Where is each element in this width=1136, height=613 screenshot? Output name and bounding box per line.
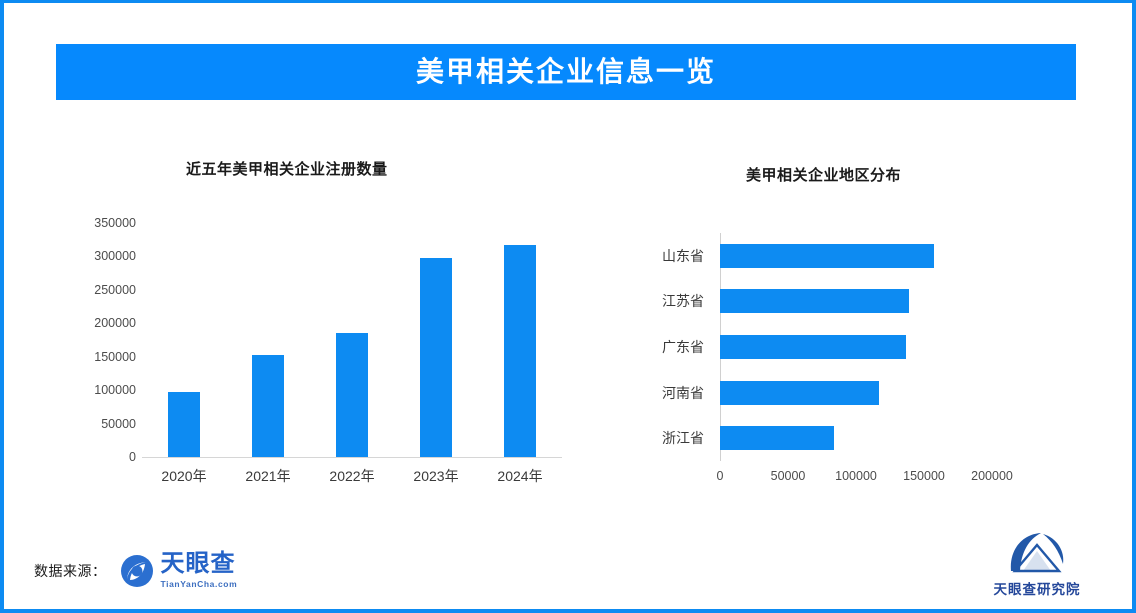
region-distribution-x-tick: 0 bbox=[717, 469, 724, 483]
registrations-y-tick: 350000 bbox=[94, 216, 136, 230]
registrations-y-tick: 50000 bbox=[101, 417, 136, 431]
region-distribution-category-label: 浙江省 bbox=[662, 428, 704, 448]
region-distribution-chart: 美甲相关企业地区分布 山东省江苏省广东省河南省浙江省 0500001000001… bbox=[624, 158, 1084, 508]
region-distribution-category-label: 江苏省 bbox=[662, 291, 704, 311]
registrations-x-tick: 2024年 bbox=[478, 466, 562, 486]
page-banner: 美甲相关企业信息一览 bbox=[56, 44, 1076, 100]
region-distribution-category-label: 山东省 bbox=[662, 246, 704, 266]
region-distribution-bars: 山东省江苏省广东省河南省浙江省 bbox=[720, 233, 992, 461]
region-distribution-row: 广东省 bbox=[720, 335, 992, 359]
registrations-bar bbox=[252, 355, 284, 457]
registrations-x-tick: 2020年 bbox=[142, 466, 226, 486]
registrations-y-tick: 250000 bbox=[94, 283, 136, 297]
registrations-x-tick: 2023年 bbox=[394, 466, 478, 486]
tianyancha-eye-icon bbox=[119, 553, 155, 589]
registrations-x-axis: 2020年2021年2022年2023年2024年 bbox=[142, 466, 562, 486]
registrations-bar-slot bbox=[394, 223, 478, 457]
tianyancha-name: 天眼查 bbox=[161, 552, 238, 576]
registrations-y-tick: 100000 bbox=[94, 383, 136, 397]
region-distribution-row: 河南省 bbox=[720, 381, 992, 405]
region-distribution-row: 江苏省 bbox=[720, 289, 992, 313]
registrations-bar-slot bbox=[478, 223, 562, 457]
registrations-x-axis-line bbox=[142, 457, 562, 458]
registrations-plot-area: 0500001000001500002000002500003000003500… bbox=[142, 223, 562, 458]
registrations-bar bbox=[168, 392, 200, 457]
registrations-y-tick: 200000 bbox=[94, 316, 136, 330]
research-institute-name: 天眼查研究院 bbox=[994, 578, 1081, 598]
research-institute-brand: 天眼查研究院 bbox=[982, 531, 1092, 598]
region-distribution-row: 山东省 bbox=[720, 244, 992, 268]
region-distribution-bar bbox=[720, 381, 879, 405]
page-title: 美甲相关企业信息一览 bbox=[416, 58, 716, 86]
data-source-label: 数据来源： bbox=[34, 561, 107, 581]
region-distribution-bar bbox=[720, 289, 909, 313]
registrations-x-tick: 2022年 bbox=[310, 466, 394, 486]
data-source: 数据来源： 天眼查 TianYanCha.com bbox=[34, 552, 237, 589]
region-distribution-bar bbox=[720, 335, 906, 359]
registrations-bars bbox=[142, 223, 562, 457]
region-distribution-bar bbox=[720, 244, 934, 268]
region-distribution-x-tick: 50000 bbox=[771, 469, 806, 483]
tianyancha-logo: 天眼查 TianYanCha.com bbox=[119, 552, 238, 589]
registrations-bar-slot bbox=[310, 223, 394, 457]
registrations-bar bbox=[420, 258, 452, 457]
region-distribution-row: 浙江省 bbox=[720, 426, 992, 450]
registrations-chart-title: 近五年美甲相关企业注册数量 bbox=[186, 158, 388, 179]
region-distribution-plot-area: 山东省江苏省广东省河南省浙江省 050000100000150000200000 bbox=[720, 233, 992, 473]
region-distribution-x-tick: 150000 bbox=[903, 469, 945, 483]
tianyancha-wordmark: 天眼查 TianYanCha.com bbox=[161, 552, 238, 589]
region-distribution-x-axis: 050000100000150000200000 bbox=[720, 469, 992, 487]
region-distribution-chart-title: 美甲相关企业地区分布 bbox=[746, 164, 901, 185]
registrations-chart: 近五年美甲相关企业注册数量 05000010000015000020000025… bbox=[64, 158, 584, 508]
registrations-bar-slot bbox=[226, 223, 310, 457]
region-distribution-x-tick: 200000 bbox=[971, 469, 1013, 483]
registrations-y-tick: 0 bbox=[129, 450, 136, 464]
registrations-x-tick: 2021年 bbox=[226, 466, 310, 486]
research-institute-logo-icon bbox=[1007, 531, 1067, 575]
infographic-page: 美甲相关企业信息一览 近五年美甲相关企业注册数量 050000100000150… bbox=[0, 0, 1136, 613]
registrations-y-tick: 300000 bbox=[94, 249, 136, 263]
region-distribution-bar bbox=[720, 426, 834, 450]
region-distribution-category-label: 广东省 bbox=[662, 337, 704, 357]
registrations-bar-slot bbox=[142, 223, 226, 457]
registrations-y-axis: 0500001000001500002000002500003000003500… bbox=[66, 223, 136, 458]
tianyancha-domain: TianYanCha.com bbox=[161, 579, 238, 589]
region-distribution-x-tick: 100000 bbox=[835, 469, 877, 483]
registrations-bar bbox=[504, 245, 536, 457]
registrations-bar bbox=[336, 333, 368, 457]
registrations-y-tick: 150000 bbox=[94, 350, 136, 364]
region-distribution-category-label: 河南省 bbox=[662, 383, 704, 403]
